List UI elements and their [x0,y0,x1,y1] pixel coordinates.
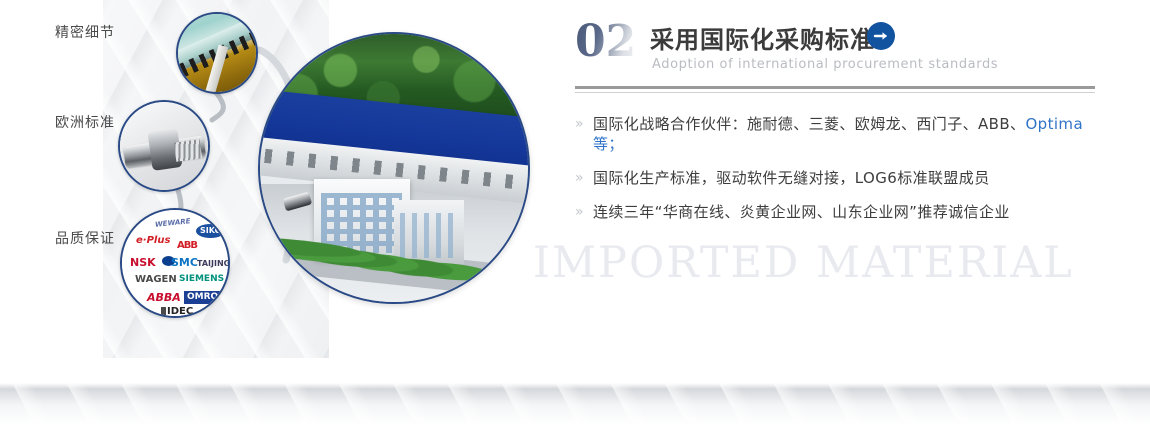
circle-image-precision [176,12,258,94]
bullet-marker-icon: » [575,168,593,188]
thread-shape [173,139,202,162]
logo-omron: OMRON [184,291,229,304]
arrow-right-icon[interactable] [867,22,895,50]
list-item: » 国际化生产标准，驱动软件无缝对接，LOG6标准联盟成员 [575,168,1095,188]
ball-screw-icon [120,102,208,190]
divider-thick-line [575,86,1095,89]
logo-idec-bar-icon [161,307,166,318]
circle-image-factory [258,32,530,304]
page-subtitle: Adoption of international procurement st… [652,57,998,72]
list-item: » 国际化战略合作伙伴：施耐德、三菱、欧姆龙、西门子、ABB、Optima等； [575,114,1095,154]
logo-taijing: TAIJING [197,260,230,268]
logo-siemens: SIEMENS [179,275,224,284]
bottom-gradient-band [0,383,1150,425]
logo-abba: ABBA [147,292,181,303]
divider-thin-line [575,92,1095,93]
logo-smc: SMC [171,257,198,268]
watermark-text: IMPORTED MATERIAL [533,238,1074,288]
list-item-text: 国际化生产标准，驱动软件无缝对接，LOG6标准联盟成员 [593,168,990,188]
gear-teeth-icon [178,14,256,92]
content-panel: 02 采用国际化采购标准 Adoption of international p… [575,18,1095,236]
bullet-marker-icon: » [575,114,593,134]
list-item-text-plain: 国际化战略合作伙伴：施耐德、三菱、欧姆龙、西门子、ABB、 [593,115,1025,133]
brand-logo-cloud: WEWARE SIKO e·Plus ABB NSK SMC TAIJING W… [122,210,228,316]
bullet-marker-icon: » [575,202,593,222]
list-item-text: 国际化战略合作伙伴：施耐德、三菱、欧姆龙、西门子、ABB、Optima等； [593,114,1095,154]
feature-list: » 国际化战略合作伙伴：施耐德、三菱、欧姆龙、西门子、ABB、Optima等； … [575,114,1095,222]
logo-eplus: e·Plus [136,236,170,246]
section-heading: 02 采用国际化采购标准 Adoption of international p… [575,18,1095,80]
logo-idec: IDEC [167,307,193,317]
logo-nsk: NSK [130,257,156,268]
side-label-european: 欧洲标准 [55,112,115,132]
side-label-precision: 精密细节 [55,22,115,42]
list-item-text: 连续三年“华商在线、炎黄企业网、山东企业网”推荐诚信企业 [593,202,1010,222]
side-label-quality: 品质保证 [55,228,115,248]
section-number: 02 [575,20,636,64]
logo-wagen: WAGEN [135,275,177,285]
logo-siko: SIKO [196,224,225,238]
logo-weware: WEWARE [155,218,191,229]
list-item: » 连续三年“华商在线、炎黄企业网、山东企业网”推荐诚信企业 [575,202,1095,222]
circle-image-european [118,100,210,192]
circle-image-quality: WEWARE SIKO e·Plus ABB NSK SMC TAIJING W… [120,208,230,318]
divider [575,86,1095,93]
logo-abb: ABB [177,241,197,251]
page-title: 采用国际化采购标准 [650,20,875,55]
